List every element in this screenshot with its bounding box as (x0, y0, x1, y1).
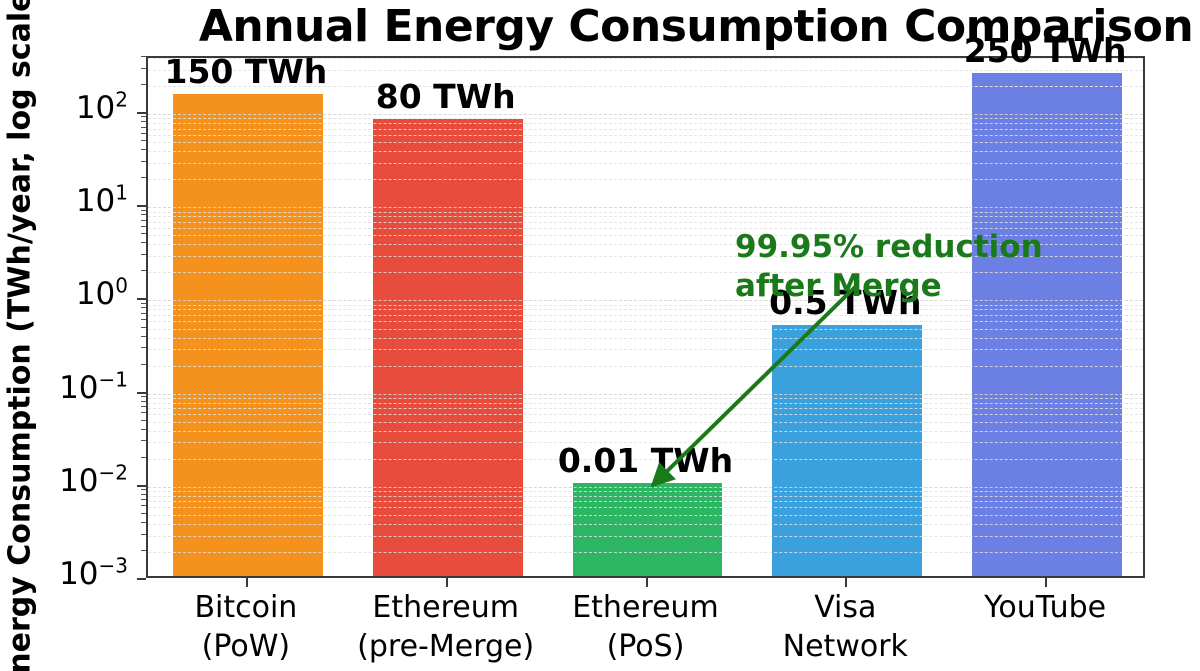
gridline (148, 123, 1143, 124)
y-axis-tick (137, 112, 146, 114)
gridline (148, 366, 1143, 367)
x-axis-tick (246, 578, 248, 587)
x-axis-tick (845, 578, 847, 587)
gridline (148, 179, 1143, 180)
gridline (148, 431, 1143, 432)
x-axis-tick (1045, 578, 1047, 587)
gridline (148, 338, 1143, 339)
gridline (148, 408, 1143, 409)
gridline (148, 163, 1143, 164)
y-axis-tick (137, 392, 146, 394)
y-axis-tick (137, 578, 146, 580)
gridline (148, 414, 1143, 415)
gridline (148, 501, 1143, 502)
x-axis-tick-label-line: Network (695, 627, 995, 666)
gridline (148, 216, 1143, 217)
gridline (148, 515, 1143, 516)
y-axis-tick (137, 205, 146, 207)
annotation-label: 99.95% reduction after Merge (735, 228, 1115, 306)
y-axis-tick-label: 100 (76, 276, 128, 312)
gridline (148, 212, 1143, 213)
gridline (148, 507, 1143, 508)
gridline (148, 329, 1143, 330)
gridline (148, 487, 1143, 488)
gridline (148, 422, 1143, 423)
bar[interactable] (173, 94, 323, 576)
gridline (148, 222, 1143, 223)
gridline (148, 135, 1143, 136)
y-axis-tick (137, 485, 146, 487)
gridline (148, 394, 1143, 395)
gridline (148, 398, 1143, 399)
gridline (148, 536, 1143, 537)
chart-figure: Annual Energy Consumption Comparison Ene… (0, 0, 1200, 671)
bar-value-label: 80 TWh (296, 77, 596, 116)
y-axis-tick-label: 10−2 (59, 463, 128, 499)
y-axis-label: Energy Consumption (TWh/year, log scale) (3, 0, 38, 671)
gridline (148, 118, 1143, 119)
gridline (148, 142, 1143, 143)
y-axis-tick-label: 102 (76, 90, 128, 126)
x-axis-tick (646, 578, 648, 587)
x-axis-tick-label: YouTube (895, 588, 1195, 627)
x-axis-tick-label-line: YouTube (895, 588, 1195, 627)
bar-value-label: 250 TWh (895, 31, 1195, 70)
gridline (148, 552, 1143, 553)
gridline (148, 207, 1143, 208)
x-axis-tick (446, 578, 448, 587)
bar-value-label: 0.01 TWh (496, 441, 796, 480)
y-axis-tick-label: 101 (76, 183, 128, 219)
gridline (148, 524, 1143, 525)
gridline (148, 403, 1143, 404)
gridline (148, 129, 1143, 130)
y-axis-tick-label: 10−1 (59, 370, 128, 406)
gridline (148, 349, 1143, 350)
gridline (148, 151, 1143, 152)
y-axis-label-container: Energy Consumption (TWh/year, log scale) (0, 0, 48, 671)
gridline (148, 491, 1143, 492)
y-axis-tick-label: 10−3 (59, 556, 128, 592)
gridline (148, 496, 1143, 497)
y-axis-tick (137, 298, 146, 300)
